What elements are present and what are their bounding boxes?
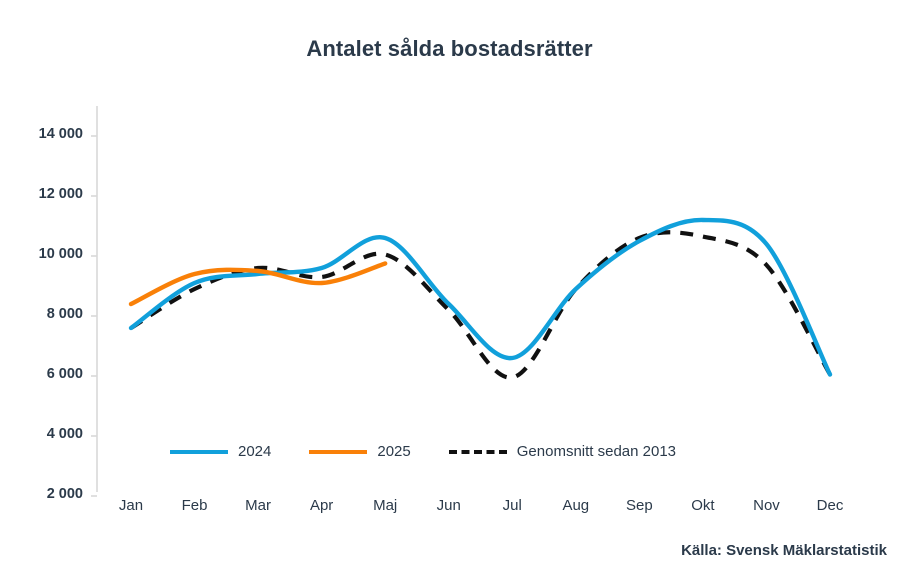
series-line-genomsnitt-sedan-2013 bbox=[131, 232, 830, 377]
chart-legend: 2024 2025 Genomsnitt sedan 2013 bbox=[170, 443, 676, 460]
legend-swatch-2025 bbox=[309, 450, 367, 454]
y-tick-label: 12 000 bbox=[13, 186, 83, 202]
series-lines bbox=[131, 220, 830, 378]
x-tick-label: Jun bbox=[414, 497, 484, 514]
y-tick-label: 14 000 bbox=[13, 126, 83, 142]
source-note: Källa: Svensk Mäklarstatistik bbox=[681, 542, 887, 559]
y-tick-label: 10 000 bbox=[13, 246, 83, 262]
x-tick-label: Dec bbox=[795, 497, 865, 514]
legend-item-2025[interactable]: 2025 bbox=[309, 443, 410, 460]
x-tick-label: Apr bbox=[287, 497, 357, 514]
legend-swatch-2024 bbox=[170, 450, 228, 454]
x-tick-label: Jan bbox=[96, 497, 166, 514]
legend-item-average[interactable]: Genomsnitt sedan 2013 bbox=[449, 443, 676, 460]
y-tick-label: 4 000 bbox=[13, 426, 83, 442]
y-tick-label: 2 000 bbox=[13, 486, 83, 502]
x-tick-label: Sep bbox=[604, 497, 674, 514]
x-tick-label: Jul bbox=[477, 497, 547, 514]
x-tick-label: Okt bbox=[668, 497, 738, 514]
legend-label-2025: 2025 bbox=[377, 443, 410, 460]
axis-ticks bbox=[91, 136, 97, 496]
plot-area bbox=[0, 0, 899, 581]
legend-label-2024: 2024 bbox=[238, 443, 271, 460]
y-tick-label: 8 000 bbox=[13, 306, 83, 322]
legend-label-average: Genomsnitt sedan 2013 bbox=[517, 443, 676, 460]
x-tick-label: Nov bbox=[731, 497, 801, 514]
legend-item-2024[interactable]: 2024 bbox=[170, 443, 271, 460]
chart-container: Antalet sålda bostadsrätter 2 0004 0006 … bbox=[0, 0, 899, 581]
x-tick-label: Aug bbox=[541, 497, 611, 514]
x-tick-label: Maj bbox=[350, 497, 420, 514]
x-tick-label: Feb bbox=[160, 497, 230, 514]
x-tick-label: Mar bbox=[223, 497, 293, 514]
y-tick-label: 6 000 bbox=[13, 366, 83, 382]
legend-swatch-average bbox=[449, 450, 507, 454]
